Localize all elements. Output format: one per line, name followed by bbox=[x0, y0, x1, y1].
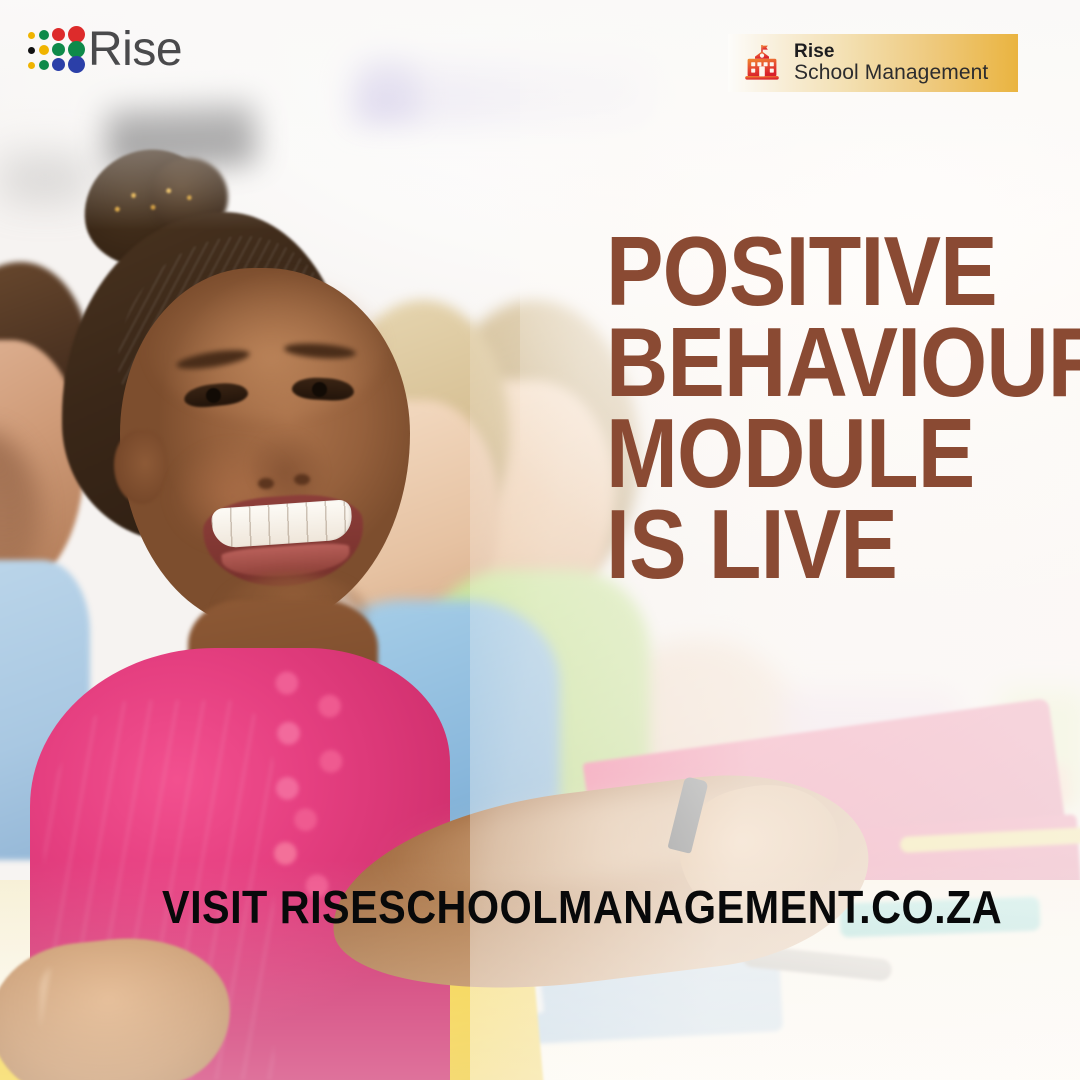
rise-logo[interactable]: Rise bbox=[28, 26, 182, 74]
website-cta-text[interactable]: VISIT RISESCHOOLMANAGEMENT.CO.ZA bbox=[162, 884, 1002, 930]
photo-girl-nostril-left bbox=[258, 478, 274, 489]
rise-logo-wordmark: Rise bbox=[88, 26, 182, 74]
rise-school-management-badge[interactable]: Rise School Management bbox=[728, 34, 1018, 92]
photo-girl-nostril-right bbox=[294, 474, 310, 485]
badge-text-block: Rise School Management bbox=[794, 42, 988, 84]
headline-line-4: IS LIVE bbox=[606, 499, 1002, 590]
headline-line-1: POSITIVE bbox=[606, 226, 1002, 317]
school-building-icon bbox=[742, 43, 782, 83]
photo-girl-ear bbox=[114, 430, 166, 504]
social-media-post: Rise bbox=[0, 0, 1080, 1080]
photo-girl-pupil-left bbox=[206, 388, 221, 403]
photo-girl-pupil-right bbox=[312, 382, 327, 397]
badge-subtitle: School Management bbox=[794, 62, 988, 84]
headline-line-2: BEHAVIOUR bbox=[606, 317, 1002, 408]
badge-title: Rise bbox=[794, 42, 988, 62]
headline-block: POSITIVE BEHAVIOUR MODULE IS LIVE bbox=[606, 226, 1056, 591]
rise-dot-grid-icon bbox=[28, 28, 78, 73]
photo-girl-nose bbox=[250, 428, 328, 502]
headline-line-3: MODULE bbox=[606, 408, 1002, 499]
photo-girl-forehead-highlight bbox=[146, 270, 386, 420]
